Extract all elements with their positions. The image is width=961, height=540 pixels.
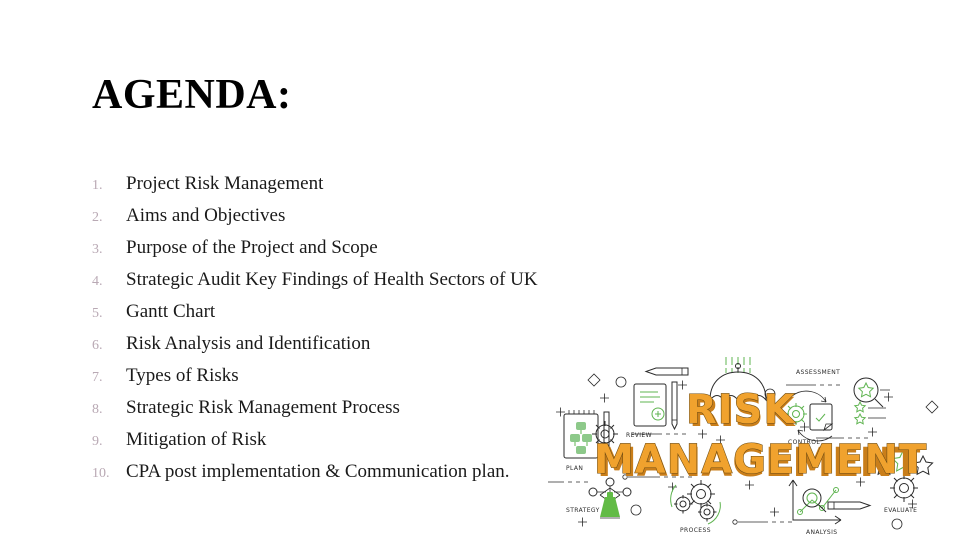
strategy-label: STRATEGY (566, 507, 600, 514)
list-item-label: Types of Risks (126, 360, 239, 392)
plan-label: PLAN (566, 465, 583, 472)
list-item-label: Aims and Objectives (126, 200, 285, 232)
list-item-number: 10. (92, 458, 126, 490)
list-item: 4. Strategic Audit Key Findings of Healt… (92, 264, 562, 296)
risk-management-illustration: PLAN REVIEW (548, 352, 958, 540)
process-label: PROCESS (680, 527, 711, 534)
list-item-number: 4. (92, 266, 126, 298)
list-item-number: 1. (92, 170, 126, 202)
list-item-number: 5. (92, 298, 126, 330)
list-item-label: Strategic Audit Key Findings of Health S… (126, 264, 538, 296)
wordmark-management: MANAGEMENT MANAGEMENT (594, 437, 927, 486)
list-item-number: 3. (92, 234, 126, 266)
list-item: 8. Strategic Risk Management Process (92, 392, 562, 424)
list-item-label: Project Risk Management (126, 168, 323, 200)
assessment-label: ASSESSMENT (796, 369, 840, 376)
list-item: 3. Purpose of the Project and Scope (92, 232, 562, 264)
analysis-label: ANALYSIS (806, 529, 838, 536)
agenda-list: 1. Project Risk Management 2. Aims and O… (92, 168, 562, 488)
list-item: 7. Types of Risks (92, 360, 562, 392)
evaluate-label: EVALUATE (884, 507, 917, 514)
list-item-number: 2. (92, 202, 126, 234)
slide-canvas: AGENDA: 1. Project Risk Management 2. Ai… (0, 0, 961, 540)
pen-icon-top (646, 368, 688, 375)
review-icon (634, 382, 677, 429)
list-item-label: CPA post implementation & Communication … (126, 456, 510, 488)
list-item: 5. Gantt Chart (92, 296, 562, 328)
list-item: 2. Aims and Objectives (92, 200, 562, 232)
list-item-number: 9. (92, 426, 126, 458)
list-item-label: Strategic Risk Management Process (126, 392, 400, 424)
assessment-icon (854, 378, 890, 424)
list-item-number: 8. (92, 394, 126, 426)
svg-text:MANAGEMENT: MANAGEMENT (594, 437, 927, 483)
process-icon (671, 480, 721, 524)
pen-icon-bottom (828, 502, 870, 509)
list-item-label: Mitigation of Risk (126, 424, 266, 456)
list-item-number: 6. (92, 330, 126, 362)
list-item: 9. Mitigation of Risk (92, 424, 562, 456)
list-item-label: Gantt Chart (126, 296, 215, 328)
list-item: 1. Project Risk Management (92, 168, 562, 200)
list-item: 6. Risk Analysis and Identification (92, 328, 562, 360)
svg-text:RISK: RISK (686, 387, 796, 433)
wordmark-risk-text: RISK (686, 387, 796, 433)
wordmark-mgmt-text: MANAGEMENT (594, 437, 927, 483)
page-title: AGENDA: (92, 72, 292, 118)
wordmark-risk: RISK RISK (686, 387, 796, 436)
list-item-label: Purpose of the Project and Scope (126, 232, 378, 264)
list-item-number: 7. (92, 362, 126, 394)
list-item-label: Risk Analysis and Identification (126, 328, 370, 360)
list-item: 10. CPA post implementation & Communicat… (92, 456, 562, 488)
